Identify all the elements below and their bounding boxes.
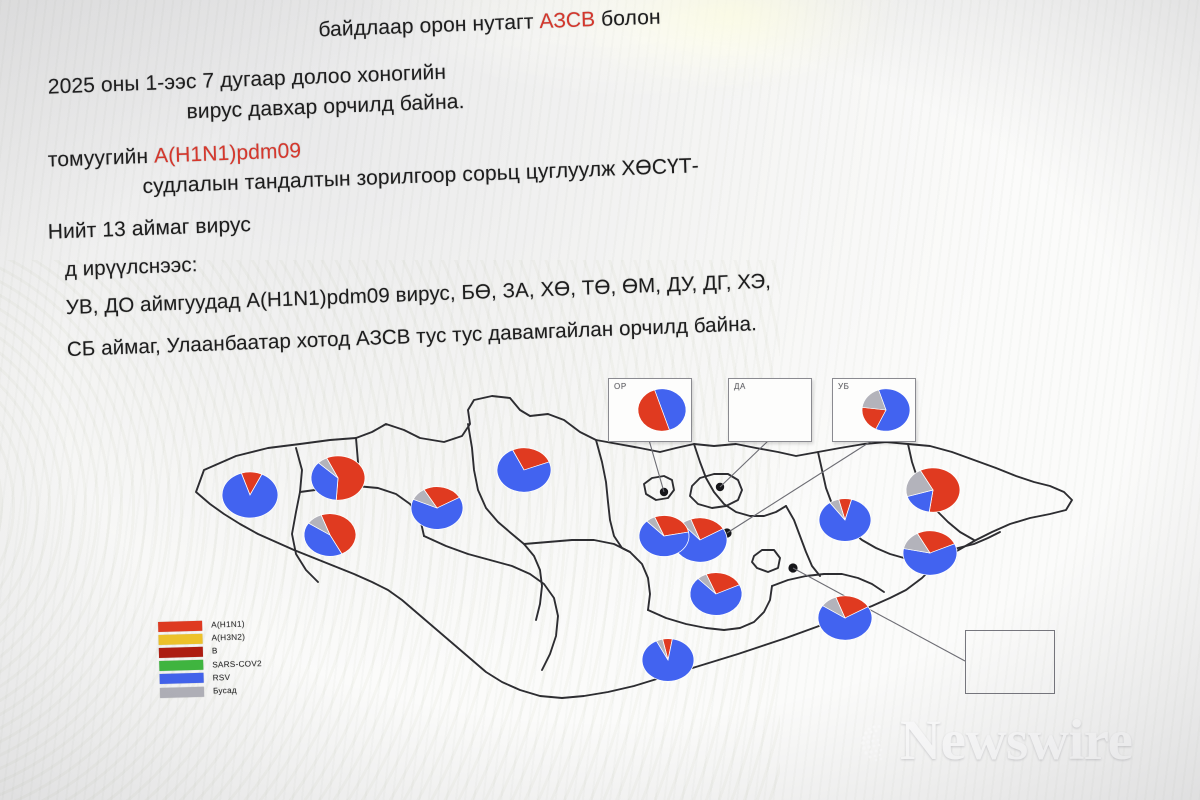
- callout-connector: [720, 440, 769, 487]
- legend-label: A(H1N1): [211, 620, 245, 630]
- legend-label: Бусад: [213, 686, 237, 696]
- callout-pie-ор: [629, 385, 699, 435]
- empty-callout-box: [965, 630, 1055, 694]
- pie-chart--: [642, 639, 694, 682]
- pie-chart--: [304, 514, 356, 557]
- legend-label: SARS-COV2: [212, 659, 262, 669]
- legend-label: A(H3N2): [211, 633, 245, 643]
- pie-chart--: [819, 499, 871, 542]
- callout-connector: [649, 440, 664, 492]
- legend-swatch: [159, 660, 203, 671]
- legend-label: RSV: [213, 673, 231, 682]
- callout-label: УБ: [838, 382, 850, 391]
- pie-chart--: [818, 596, 872, 640]
- legend-swatch: [160, 673, 204, 684]
- pie-chart--: [903, 531, 957, 575]
- pie-chart--: [411, 487, 463, 530]
- legend-swatch: [160, 686, 204, 697]
- callout-box-уб: УБ: [832, 378, 916, 442]
- legend-label: B: [212, 647, 218, 656]
- callout-label: ОР: [614, 382, 627, 391]
- callout-pie-уб: [853, 385, 923, 435]
- slide-photo: байдлаар орон нутагт АЗСВ болон 2025 оны…: [0, 0, 1200, 800]
- chart-legend: A(H1N1)A(H3N2)BSARS-COV2RSVБусад: [158, 617, 263, 699]
- pie-chart--: [222, 472, 278, 518]
- legend-swatch: [159, 647, 203, 658]
- pie-chart--: [690, 573, 742, 616]
- callout-label: ДА: [734, 382, 746, 391]
- pie-chart--map: [639, 515, 689, 556]
- legend-swatch: [158, 634, 202, 645]
- pie-chart--: [311, 456, 365, 500]
- legend-swatch: [158, 620, 202, 631]
- pie-chart--: [497, 448, 551, 492]
- pie-chart--: [906, 468, 960, 512]
- callout-box-ор: ОР: [608, 378, 692, 442]
- callout-box-да: ДА: [728, 378, 812, 442]
